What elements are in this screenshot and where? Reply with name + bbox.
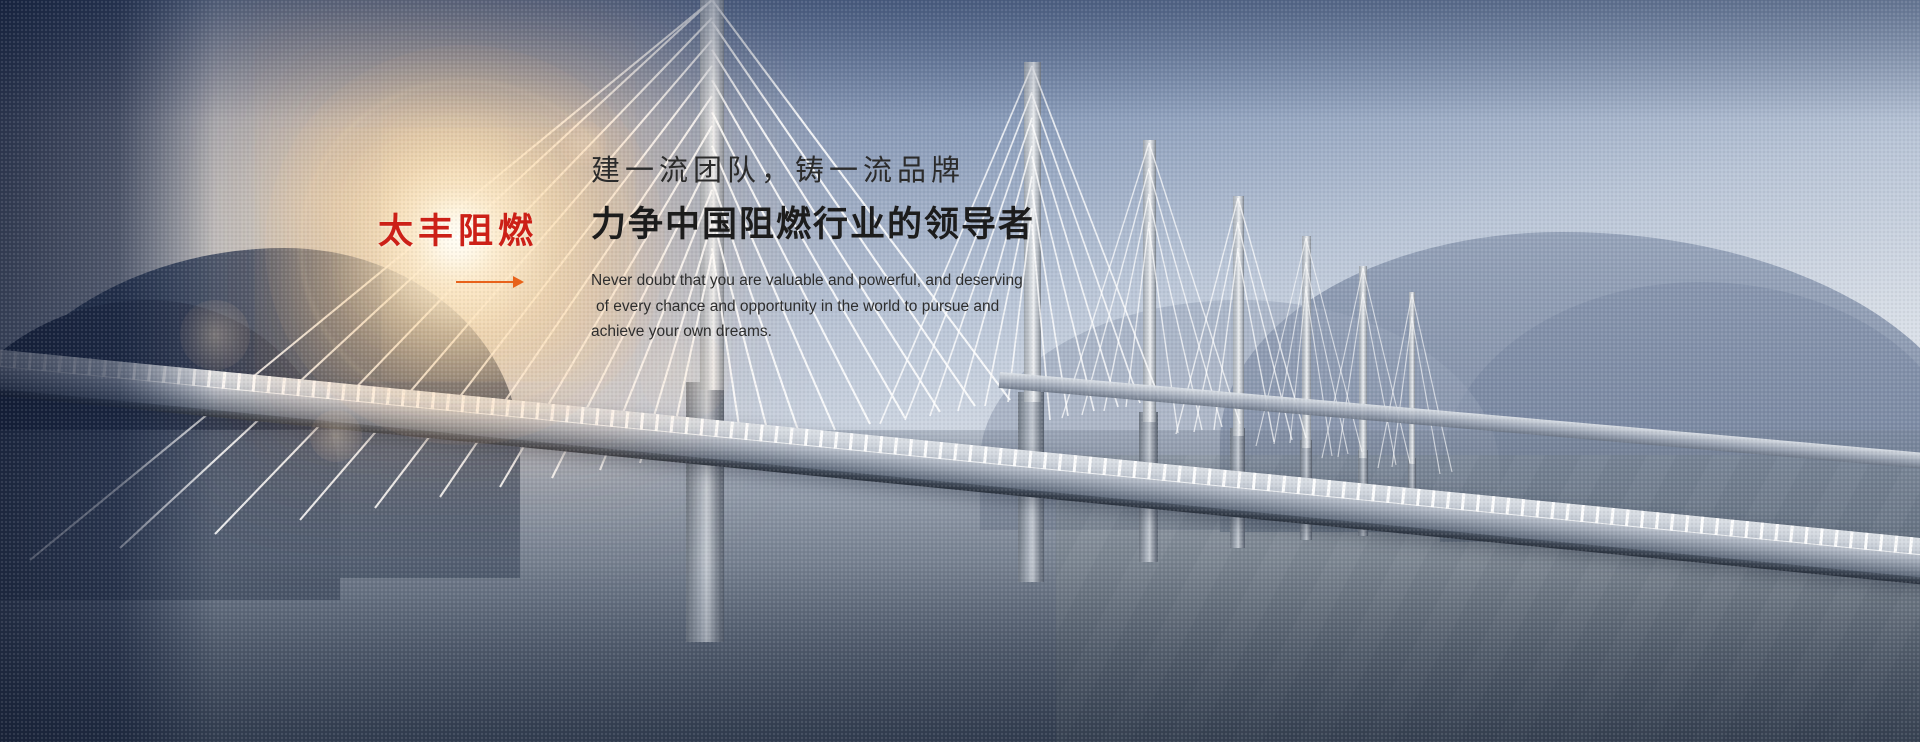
hero-banner: 太丰阻燃 建一流团队，铸一流品牌 力争中国阻燃行业的领导者 Never doub… bbox=[0, 0, 1920, 742]
brand-logo[interactable]: 太丰阻燃 bbox=[378, 215, 598, 288]
headline-secondary: 力争中国阻燃行业的领导者 bbox=[591, 204, 1111, 246]
brand-logo-text: 太丰阻燃 bbox=[378, 215, 598, 250]
banner-content: 太丰阻燃 建一流团队，铸一流品牌 力争中国阻燃行业的领导者 Never doub… bbox=[0, 0, 1920, 742]
subcopy-line-1: Never doubt that you are valuable and po… bbox=[591, 268, 1051, 294]
banner-text-block: 建一流团队，铸一流品牌 力争中国阻燃行业的领导者 Never doubt tha… bbox=[591, 152, 1111, 345]
arrow-shaft bbox=[456, 281, 518, 283]
arrow-head bbox=[513, 276, 524, 288]
subcopy-line-2: of every chance and opportunity in the w… bbox=[591, 294, 1051, 320]
subcopy-line-3: achieve your own dreams. bbox=[591, 319, 1051, 345]
arrow-right-icon bbox=[456, 276, 524, 288]
headline-primary: 建一流团队，铸一流品牌 bbox=[591, 152, 1111, 188]
banner-subcopy: Never doubt that you are valuable and po… bbox=[591, 268, 1051, 345]
